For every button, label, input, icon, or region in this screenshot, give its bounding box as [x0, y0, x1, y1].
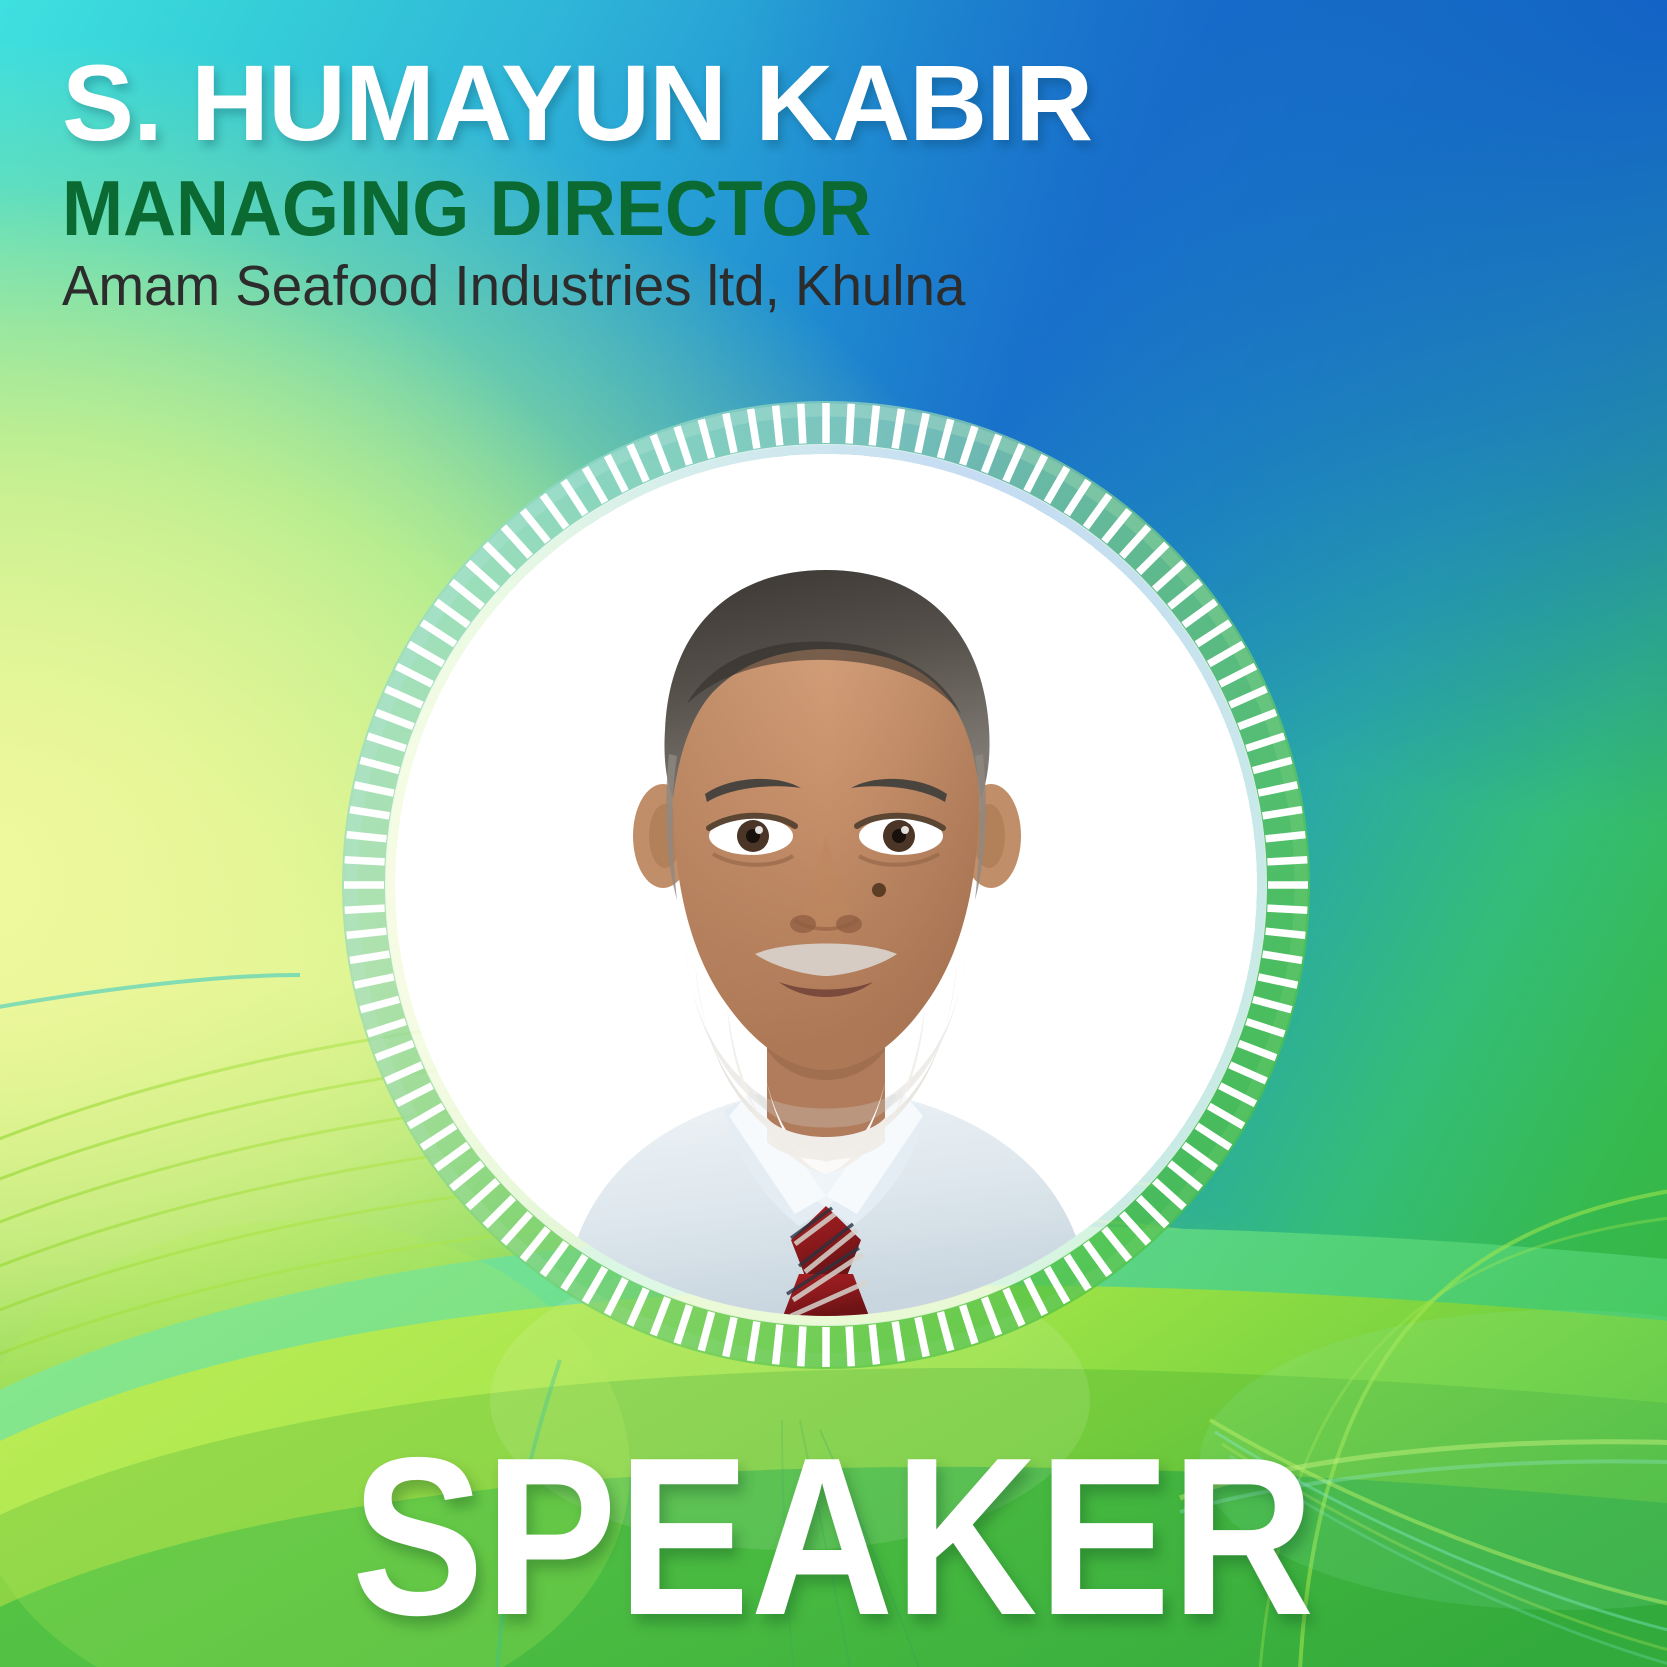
portrait-illustration	[395, 454, 1257, 1316]
speaker-role: MANAGING DIRECTOR	[62, 168, 1322, 250]
speaker-organization: Amam Seafood Industries ltd, Khulna	[62, 256, 1348, 318]
speaker-name: S. HUMAYUN KABIR	[62, 46, 1402, 160]
speaker-announcement-poster: S. HUMAYUN KABIR MANAGING DIRECTOR Amam …	[0, 0, 1667, 1667]
headline-block: S. HUMAYUN KABIR MANAGING DIRECTOR Amam …	[62, 46, 1402, 318]
speaker-badge-label: SPEAKER	[100, 1424, 1567, 1649]
portrait-medallion	[333, 392, 1319, 1378]
portrait-photo	[395, 454, 1257, 1316]
